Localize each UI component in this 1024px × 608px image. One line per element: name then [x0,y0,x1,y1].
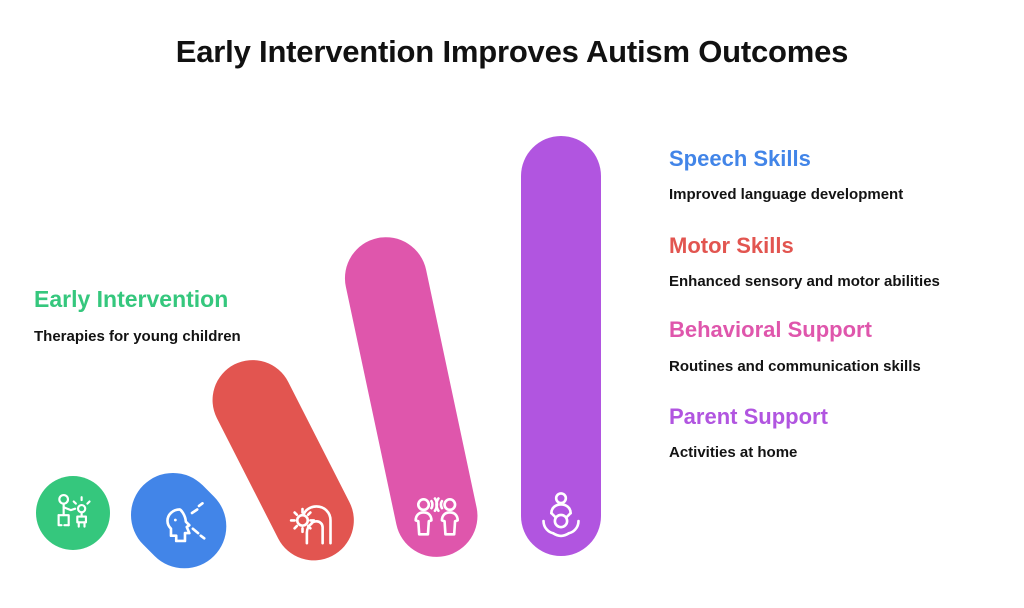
legend-title-parent-support: Parent Support [669,404,1014,430]
bar-parent-support[interactable] [521,136,601,556]
speaking-head-icon [153,495,209,551]
bar-behavioral-support[interactable] [337,230,485,565]
legend: Speech Skills Improved language developm… [669,146,1014,465]
head-gears-icon [287,494,343,550]
legend-item-behavioral-support[interactable]: Behavioral Support Routines and communic… [669,317,1014,378]
start-badge[interactable] [36,476,110,550]
legend-desc-speech-skills: Improved language development [669,183,1014,206]
start-caption: Early Intervention Therapies for young c… [34,286,304,348]
legend-title-speech-skills: Speech Skills [669,146,1014,172]
legend-desc-parent-support: Activities at home [669,441,1014,464]
legend-title-behavioral-support: Behavioral Support [669,317,1014,343]
legend-title-motor-skills: Motor Skills [669,233,1014,259]
legend-item-speech-skills[interactable]: Speech Skills Improved language developm… [669,146,1014,207]
legend-desc-motor-skills: Enhanced sensory and motor abilities [669,270,941,293]
start-caption-title: Early Intervention [34,286,304,312]
parent-holding-child-icon [533,486,589,542]
therapist-child-icon [50,490,96,536]
bar-speech-skills[interactable] [114,456,244,586]
legend-desc-behavioral-support: Routines and communication skills [669,355,1014,378]
start-caption-desc: Therapies for young children [34,326,304,348]
legend-item-motor-skills[interactable]: Motor Skills Enhanced sensory and motor … [669,233,1014,294]
two-people-communicating-icon [409,489,465,545]
legend-item-parent-support[interactable]: Parent Support Activities at home [669,404,1014,465]
